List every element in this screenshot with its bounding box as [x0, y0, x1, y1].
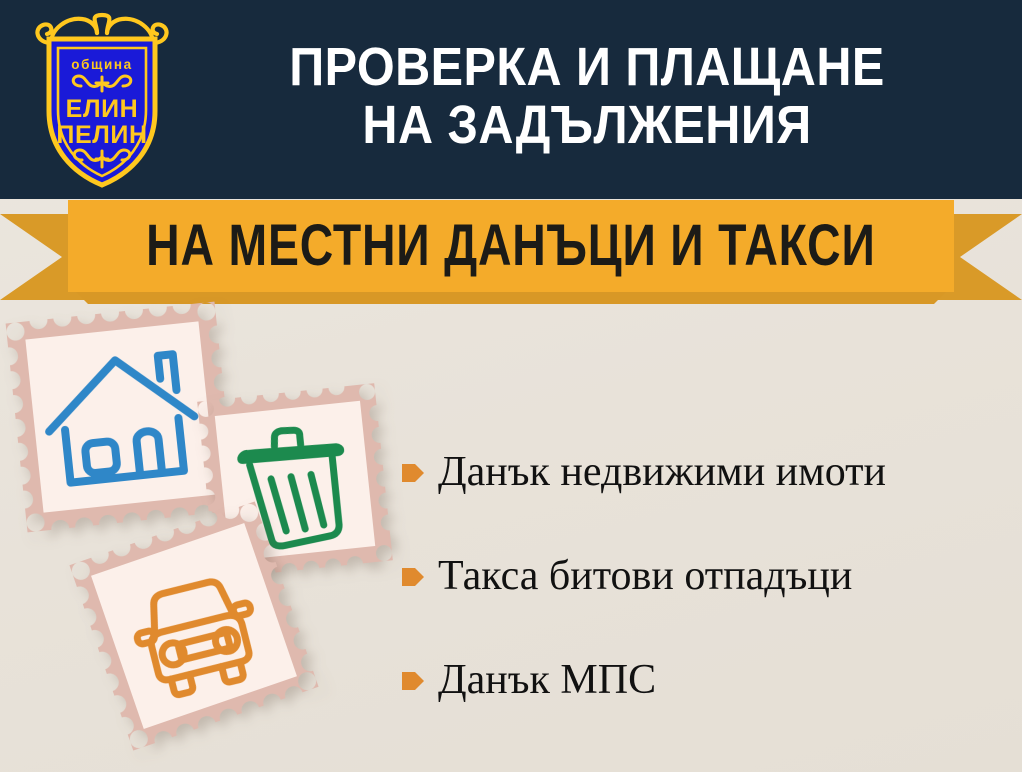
poster-canvas: община ЕЛИН ПЕЛИН ПРОВЕРКА И ПЛ [0, 0, 1022, 772]
list-item[interactable]: Данък недвижими имоти [400, 420, 1010, 524]
list-item-label: Данък недвижими имоти [438, 449, 886, 495]
municipality-logo: община ЕЛИН ПЕЛИН [22, 5, 182, 195]
arrow-pentagon-bullet-icon [400, 564, 426, 590]
arrow-pentagon-bullet-icon [400, 460, 426, 486]
tax-type-list: Данък недвижими имоти Такса битови отпад… [400, 420, 1010, 732]
shield-emblem-icon: община ЕЛИН ПЕЛИН [27, 7, 177, 192]
logo-top-text: община [71, 57, 133, 72]
header-banner: община ЕЛИН ПЕЛИН ПРОВЕРКА И ПЛ [0, 0, 1022, 199]
list-item-label: Данък МПС [438, 657, 656, 703]
list-item-label: Такса битови отпадъци [438, 553, 852, 599]
list-item[interactable]: Данък МПС [400, 628, 1010, 732]
ribbon-text: НА МЕСТНИ ДАНЪЦИ И ТАКСИ [146, 217, 875, 275]
list-item[interactable]: Такса битови отпадъци [400, 524, 1010, 628]
subtitle-ribbon: НА МЕСТНИ ДАНЪЦИ И ТАКСИ [0, 198, 1022, 310]
arrow-pentagon-bullet-icon [400, 668, 426, 694]
logo-name-line2: ПЕЛИН [56, 121, 147, 149]
ribbon-band: НА МЕСТНИ ДАНЪЦИ И ТАКСИ [68, 200, 954, 292]
page-title-line-2: НА ЗАДЪЛЖЕНИЯ [223, 97, 952, 154]
page-title-line-1: ПРОВЕРКА И ПЛАЩАНЕ [223, 39, 952, 96]
logo-name-line1: ЕЛИН [66, 95, 139, 123]
page-title: ПРОВЕРКА И ПЛАЩАНЕ НА ЗАДЪЛЖЕНИЯ [182, 39, 1022, 153]
